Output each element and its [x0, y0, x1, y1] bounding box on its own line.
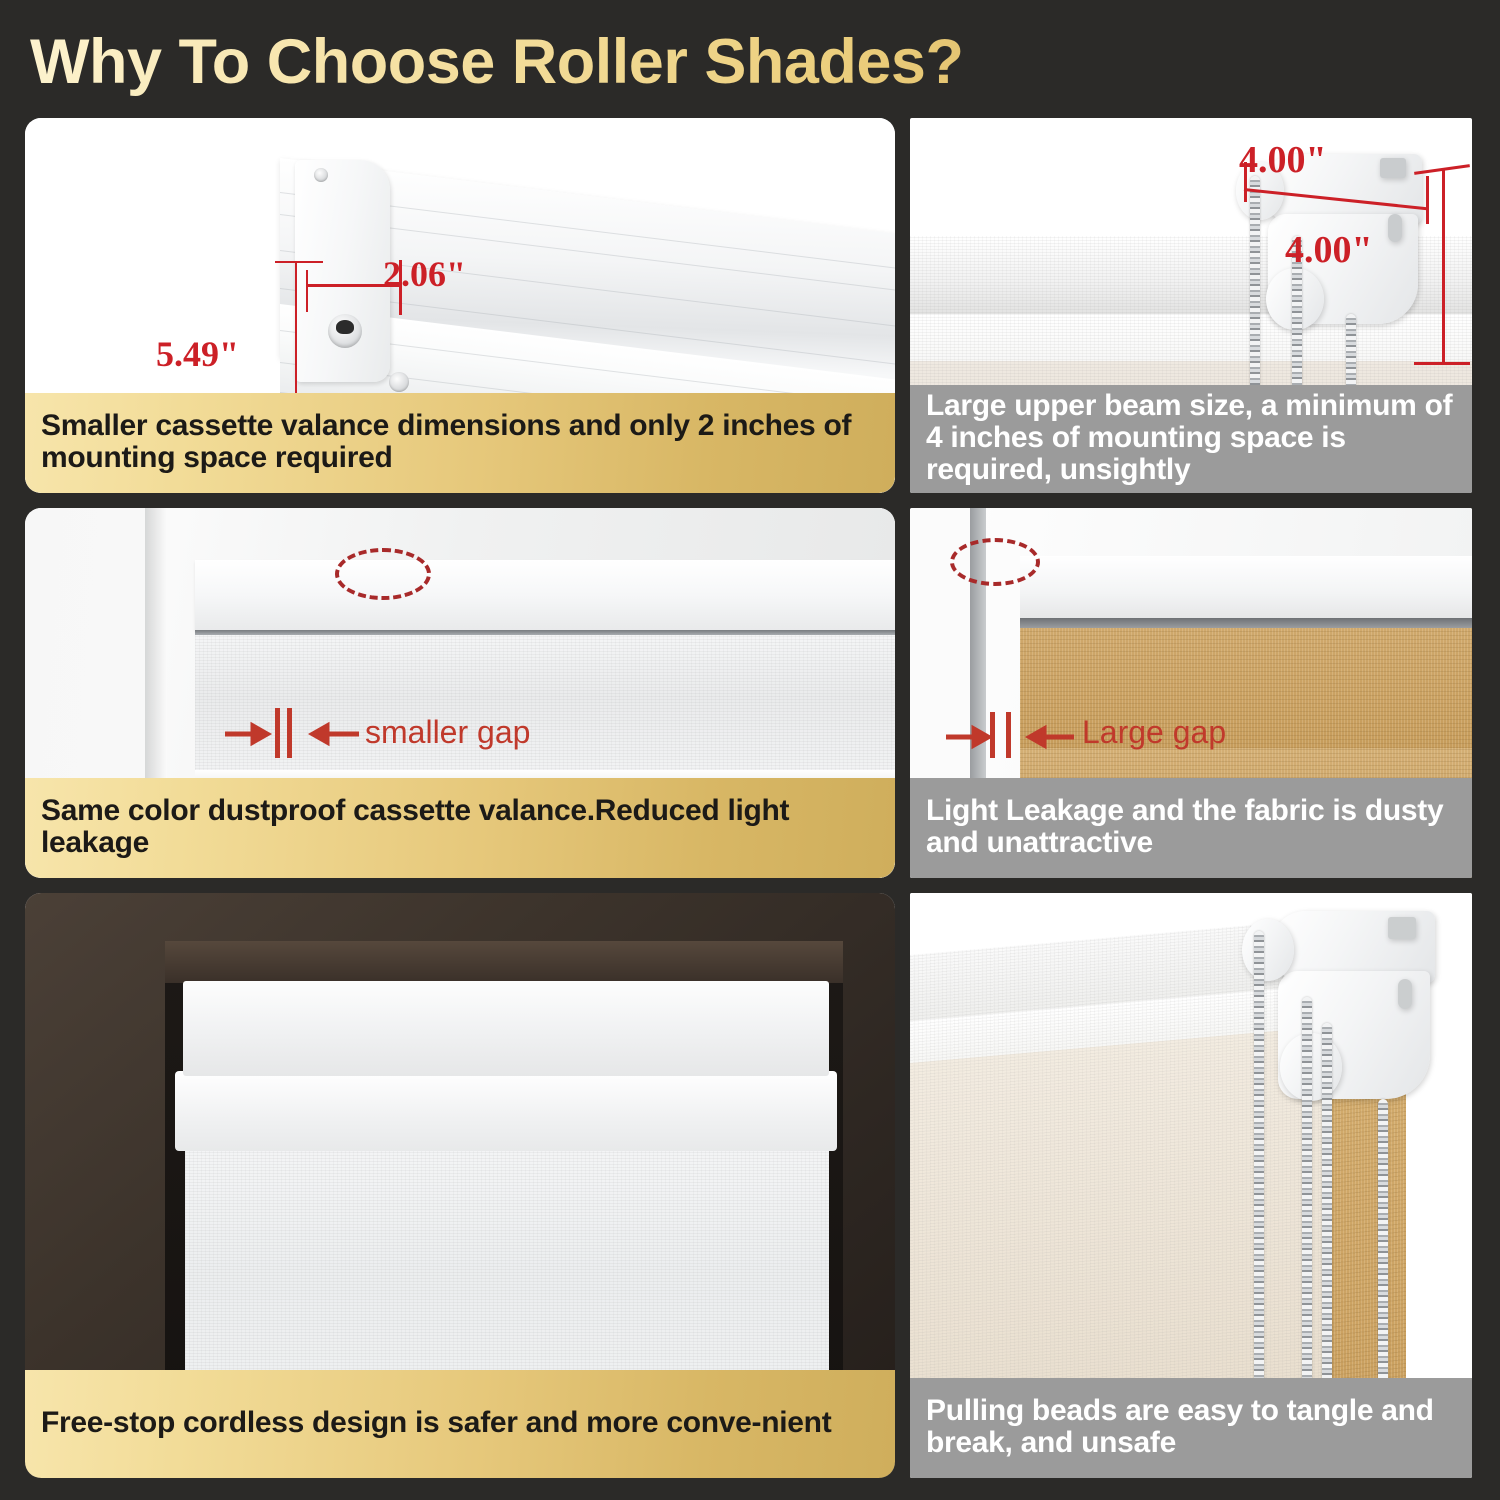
bracket-slot-icon	[1388, 917, 1416, 939]
panel-con-pulling-beads: Pulling beads are easy to tangle and bre…	[910, 893, 1472, 1478]
dim-tick-bottom	[1414, 362, 1470, 365]
arrow-right-icon	[293, 716, 363, 752]
valance-end-cap	[295, 160, 390, 382]
gap-marker-right	[287, 708, 292, 758]
panel-pro-cassette-dimensions: 2.06" 5.49" Smaller cassette valance dim…	[25, 118, 895, 493]
gap-marker-right	[1006, 712, 1011, 758]
bracket-slot-icon-2	[1398, 979, 1412, 1009]
dim-tick-left	[306, 270, 308, 312]
highlight-ellipse-icon	[335, 548, 431, 600]
caption-text: Light Leakage and the fabric is dusty an…	[926, 795, 1458, 859]
dimension-label-height: 5.49"	[156, 333, 239, 375]
caption-text: Free-stop cordless design is safer and m…	[41, 1407, 831, 1439]
bracket-slot-icon-2	[1388, 214, 1402, 242]
cord-outlet-icon	[328, 314, 362, 348]
panel-pro-cordless-design: Free-stop cordless design is safer and m…	[25, 893, 895, 1478]
comparison-grid: 2.06" 5.49" Smaller cassette valance dim…	[0, 0, 1500, 1500]
cassette-valance	[195, 560, 895, 630]
gap-label: smaller gap	[365, 714, 530, 751]
screw-icon-top	[314, 168, 328, 182]
bead-chain-left	[1254, 931, 1264, 1431]
cassette-valance-upper	[183, 981, 829, 1076]
shade-fabric-upper	[195, 635, 895, 775]
gap-shadow	[1020, 618, 1472, 628]
gap-marker-left	[275, 708, 280, 758]
panel-con-light-leakage: Large gap Light Leakage and the fabric i…	[910, 508, 1472, 878]
arrow-right-icon	[1012, 720, 1078, 754]
dim-line-height	[1442, 168, 1445, 364]
bead-chain-mid	[1302, 997, 1312, 1437]
caption-bar-pro-cassette: Smaller cassette valance dimensions and …	[25, 393, 895, 493]
highlight-ellipse-icon	[950, 538, 1040, 586]
caption-text: Smaller cassette valance dimensions and …	[41, 410, 881, 474]
arrow-left-icon	[944, 720, 1010, 754]
panel-pro-dustproof-valance: smaller gap Same color dustproof cassett…	[25, 508, 895, 878]
bracket-slot-icon	[1380, 158, 1406, 178]
exposed-roller-tube	[1020, 556, 1472, 618]
caption-bar-con-leakage: Light Leakage and the fabric is dusty an…	[910, 778, 1472, 878]
caption-text: Large upper beam size, a minimum of 4 in…	[926, 390, 1458, 485]
caption-bar-pro-dustproof: Same color dustproof cassette valance.Re…	[25, 778, 895, 878]
caption-bar-con-beads: Pulling beads are easy to tangle and bre…	[910, 1378, 1472, 1478]
caption-bar-con-beam: Large upper beam size, a minimum of 4 in…	[910, 385, 1472, 493]
dimension-label-width: 2.06"	[383, 253, 466, 295]
dimension-label-height: 4.00"	[1285, 228, 1373, 272]
screw-icon	[389, 372, 409, 392]
cassette-valance-lower	[175, 1071, 837, 1151]
roller-end-disc	[1242, 919, 1294, 981]
panel-con-upper-beam-size: 4.00" 4.00" Large upper beam size, a min…	[910, 118, 1472, 493]
caption-text: Same color dustproof cassette valance.Re…	[41, 795, 881, 859]
dim-tick-right	[1426, 176, 1429, 224]
dim-tick-top	[275, 261, 323, 263]
bead-chain-mid-2	[1322, 1023, 1332, 1435]
caption-bar-pro-cordless: Free-stop cordless design is safer and m…	[25, 1370, 895, 1478]
caption-text: Pulling beads are easy to tangle and bre…	[926, 1395, 1458, 1459]
gap-marker-left	[990, 712, 995, 758]
dimension-label-width: 4.00"	[1239, 138, 1327, 182]
gap-label: Large gap	[1082, 714, 1226, 751]
